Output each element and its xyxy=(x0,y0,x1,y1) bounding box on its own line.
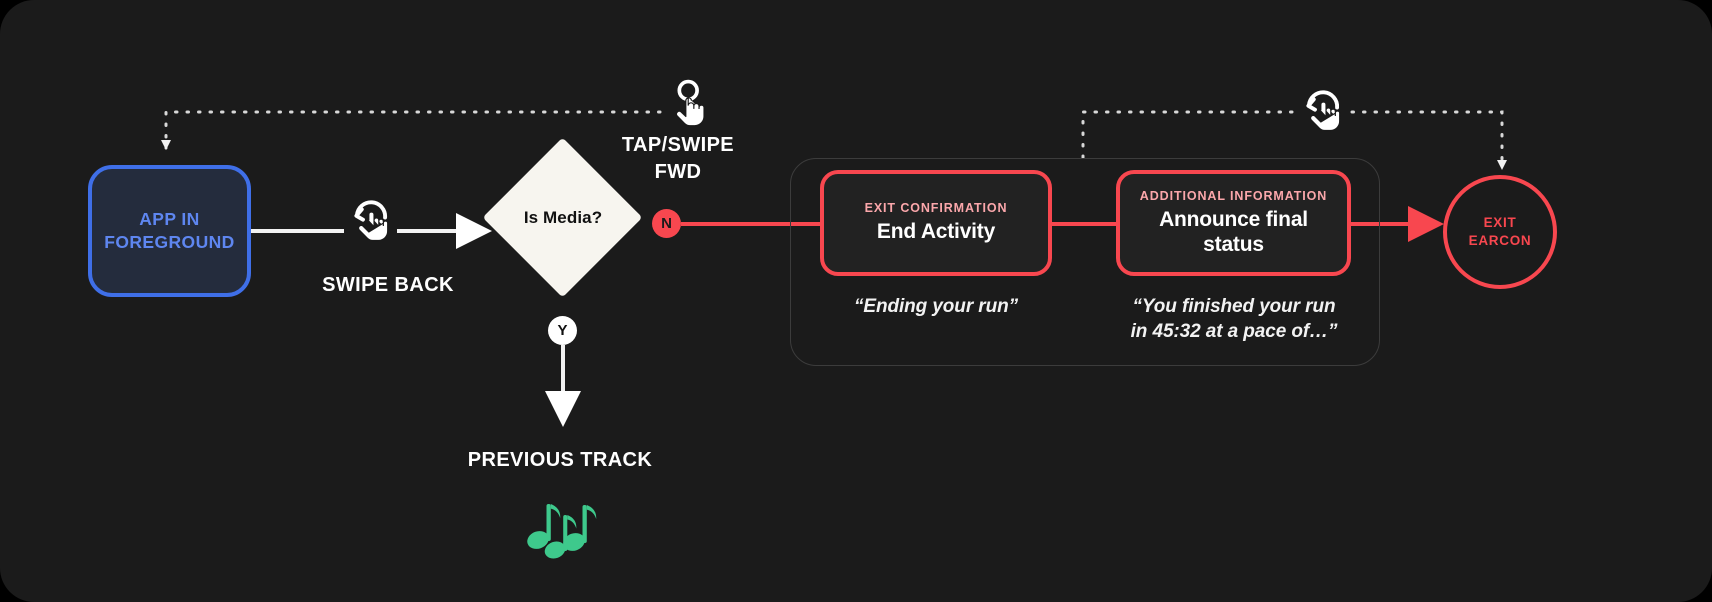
badge-no: N xyxy=(652,209,681,238)
exit-earcon-line2: EARCON xyxy=(1469,233,1532,248)
quote-announce-final-status: “You finished your run in 45:32 at a pac… xyxy=(1104,294,1364,344)
exit-earcon-line1: EXIT xyxy=(1484,215,1517,230)
card-additional-information[interactable]: ADDITIONAL INFORMATION Announce final st… xyxy=(1116,170,1351,276)
connector-dotted-swipe-to-group xyxy=(1083,112,1292,158)
label-tap-swipe-line1: TAP/SWIPE xyxy=(622,134,734,156)
quote-line1: “You finished your run xyxy=(1133,296,1336,317)
label-tap-swipe-fwd: TAP/SWIPE FWD xyxy=(578,132,778,185)
swipe-back-gesture-icon-top-right xyxy=(1297,88,1349,145)
card-exit-confirmation[interactable]: EXIT CONFIRMATION End Activity xyxy=(820,170,1052,276)
card-additional-information-kicker: ADDITIONAL INFORMATION xyxy=(1140,189,1327,203)
card-exit-confirmation-kicker: EXIT CONFIRMATION xyxy=(865,201,1008,215)
card-exit-confirmation-title: End Activity xyxy=(877,220,995,245)
card-title-line1: Announce final xyxy=(1159,208,1308,231)
app-node-label-line1: APP IN xyxy=(139,209,199,229)
node-app-in-foreground[interactable]: APP IN FOREGROUND xyxy=(88,165,251,297)
card-additional-information-title: Announce final status xyxy=(1159,208,1308,258)
quote-line2: in 45:32 at a pace of…” xyxy=(1131,321,1338,342)
app-node-label-line2: FOREGROUND xyxy=(104,232,234,252)
label-tap-swipe-line2: FWD xyxy=(655,161,702,183)
card-title-line2: status xyxy=(1203,233,1264,256)
node-exit-earcon[interactable]: EXIT EARCON xyxy=(1443,175,1557,289)
connector-dotted-swipe-to-earcon xyxy=(1352,112,1502,168)
badge-yes: Y xyxy=(548,316,577,345)
diagram-canvas: APP IN FOREGROUND SWIPE BACK Is Media? N… xyxy=(0,0,1712,602)
label-previous-track: PREVIOUS TRACK xyxy=(440,449,680,472)
quote-end-activity: “Ending your run” xyxy=(820,294,1052,319)
tap-gesture-icon xyxy=(668,78,716,135)
swipe-back-gesture-icon xyxy=(345,198,397,255)
music-notes-icon xyxy=(526,495,600,566)
